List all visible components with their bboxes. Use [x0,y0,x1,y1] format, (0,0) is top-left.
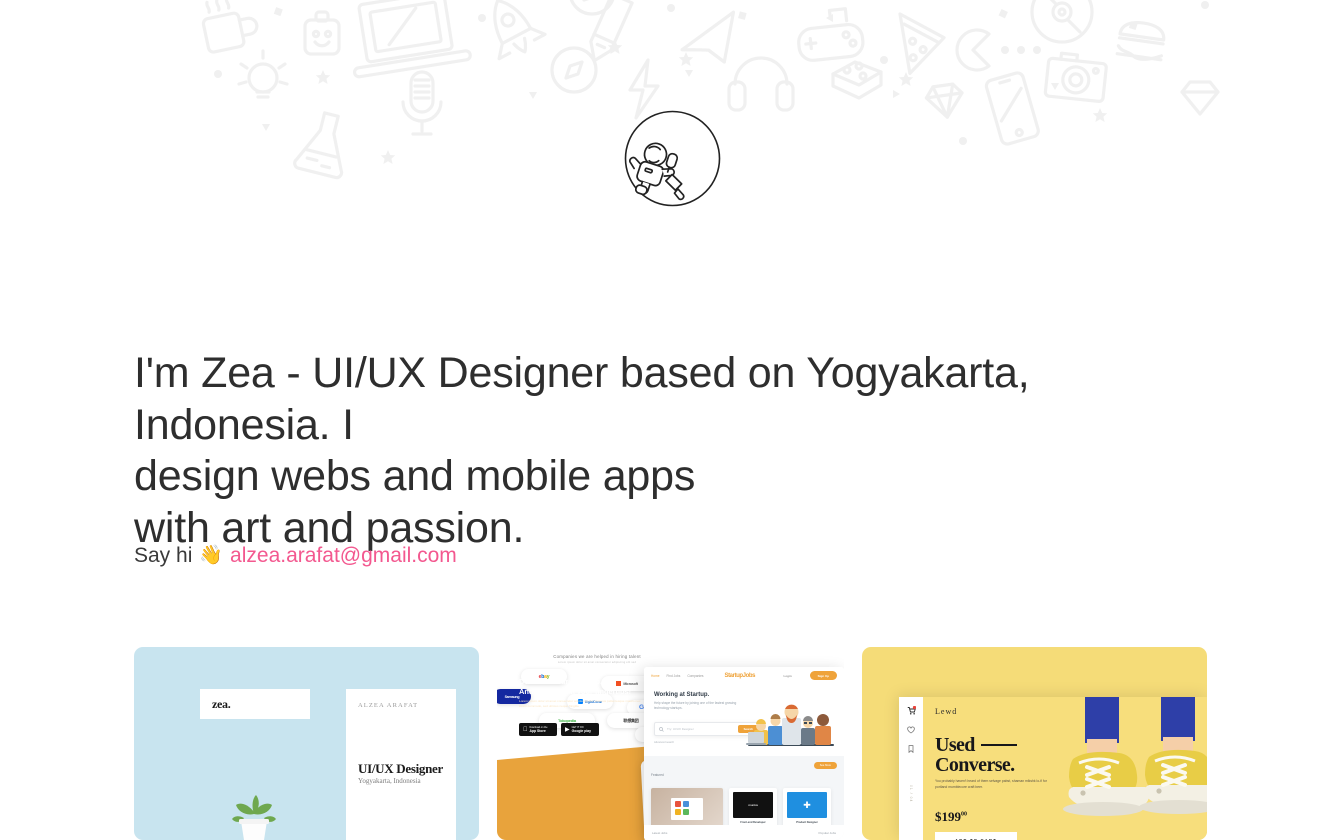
price-value: $199 [935,809,961,824]
project-card-branding[interactable]: zea. ALZEA [134,647,479,840]
google-play-badge[interactable]: ▶ GET IT ON Google play [561,723,599,736]
business-card-back: ALZEA ARAFAT UI/UX Designer Yogyakarta, … [346,689,456,840]
shopping-cart-badge-icon[interactable] [907,706,916,715]
waving-hand-icon: 👋 [199,546,223,565]
startupjobs-site-mock: Home Find Jobs Companies StartupJobs Log… [644,667,844,840]
microphone-icon [403,72,441,134]
play-logo-icon: ▶ [565,727,570,733]
cd-disc-icon [1032,0,1092,42]
pacman-dots [1001,46,1041,54]
compass-icon [552,48,596,92]
bookmark-outline-icon[interactable] [907,745,915,753]
footer-popular-jobs[interactable]: Popular Jobs [818,831,836,835]
product-price: $19900 [935,809,967,825]
lego-head-icon [305,12,339,54]
pagination-indicator: 01 / 04 [909,785,913,802]
product-title-1: Used [935,734,975,756]
compass-icon-2 [570,0,614,14]
search-placeholder-text: Try: UI/UX Designer [667,727,694,731]
app-promo-title-1: Download our free App. [519,677,602,686]
featured-label: Featured [651,773,664,777]
pizza-slice-icon [888,14,947,79]
product-title-2: Converse. [935,754,1015,776]
companies-heading-text: Companies we are helped in hiring talent [553,654,641,659]
card-job-title: UI/UX Designer [358,761,443,777]
project-card-converse[interactable]: 01 / 04 Lewd Used Converse. You probably… [862,647,1207,840]
nav-signup[interactable]: Sign Up [810,671,837,680]
page-headline: I'm Zea - UI/UX Designer based on Yogyak… [134,348,1144,554]
coffee-mug-icon [199,0,260,53]
companies-heading: Companies we are helped in hiring talent… [497,654,697,664]
advanced-search-link[interactable]: Advanced search [654,741,674,744]
business-card-front: zea. [200,689,310,840]
hero-subtitle: Help shape the future by joining one of … [654,701,750,711]
pacman-icon [957,30,989,70]
headline-line-1: I'm Zea - UI/UX Designer based on Yogyak… [134,348,1144,451]
side-rail: 01 / 04 [899,697,923,840]
search-icon [659,727,664,732]
featured-card-2-thumb: creativia [733,792,773,818]
contact-prefix: Say hi [134,542,192,569]
astronaut-icon [624,137,697,207]
potted-plant-icon [228,792,280,840]
store-brand: Lewd [935,707,957,716]
lightbulb-icon [239,51,287,97]
rocket-icon [475,0,548,64]
lego-brick-icon [833,62,881,98]
featured-card-3-thumb: ✚ [787,792,827,818]
converse-site-mock: 01 / 04 Lewd Used Converse. You probably… [899,697,1207,840]
footer-latest-jobs[interactable]: Latest Jobs [652,831,667,835]
diamond-icon-2 [1182,82,1218,114]
product-description: You probably haven't heard of them selva… [935,779,1053,790]
site-logo-text: StartupJobs [724,673,755,679]
burger-icon [1117,20,1166,62]
site-logo[interactable] [624,110,721,207]
play-large: Google play [572,730,591,733]
apple-logo-icon:  [523,727,528,733]
camera-icon [1045,52,1107,102]
project-card-list: zea. ALZEA [134,647,1211,840]
add-to-cart-button[interactable]: ADD TO CART [935,832,1017,840]
app-promo-body: Lorem ipsum dolor sit amet consectetur a… [519,699,641,709]
team-illustration [746,700,836,752]
smartphone-icon [985,72,1040,146]
brand-mark: zea. [200,689,310,719]
nav-companies[interactable]: Companies [687,674,703,678]
product-title: Used Converse. [935,735,1017,775]
site-hero: Working at Startup. Help shape the futur… [644,684,844,756]
nav-login[interactable]: Login [775,671,799,680]
card-location: Yogyakarta, Indonesia [358,777,421,785]
featured-see-more-button[interactable]: See More [814,762,837,769]
pencil-icon [584,0,632,65]
app-store-badge[interactable]:  Download on the App Store [519,723,557,736]
flask-icon [294,109,355,179]
headphones-icon [729,58,793,110]
featured-card-3-title: Product Designer [787,821,827,824]
card-person-name: ALZEA ARAFAT [358,702,444,709]
blue-jeans-right [1161,697,1195,741]
gamepad-icon [796,7,865,61]
project-card-startupjobs[interactable]: Companies we are helped in hiring talent… [497,647,844,840]
featured-card-2-title: Front-end Developer [733,821,773,824]
nav-find-jobs[interactable]: Find Jobs [667,674,681,678]
nav-home[interactable]: Home [651,674,660,678]
heart-outline-icon[interactable] [907,726,915,734]
title-dash [981,744,1017,746]
site-navbar: Home Find Jobs Companies StartupJobs Log… [644,667,844,684]
app-store-large: App Store [530,730,548,733]
contact-line: Say hi 👋 alzea.arafat@gmail.com [134,542,457,569]
email-link[interactable]: alzea.arafat@gmail.com [230,542,457,569]
portfolio-page: I'm Zea - UI/UX Designer based on Yogyak… [0,0,1344,840]
converse-product-image [1047,697,1207,840]
companies-subheading-text: Lorem ipsum dolor sit amet consectetur a… [497,661,697,664]
app-promo-title-2: And find jobs in your fingertips! [519,687,631,696]
laptop-icon [344,0,471,77]
blue-jeans-left [1085,697,1119,743]
headline-line-2: design webs and mobile apps [134,451,1144,503]
diamond-icon [925,83,965,120]
paper-plane-icon [678,12,740,67]
site-footer: Latest Jobs Popular Jobs [644,825,844,840]
hero-title: Working at Startup. [654,692,834,698]
price-cents: 00 [961,812,967,818]
app-promo-title: Download our free App. And find jobs in … [519,677,647,697]
card-front-body [200,719,310,840]
